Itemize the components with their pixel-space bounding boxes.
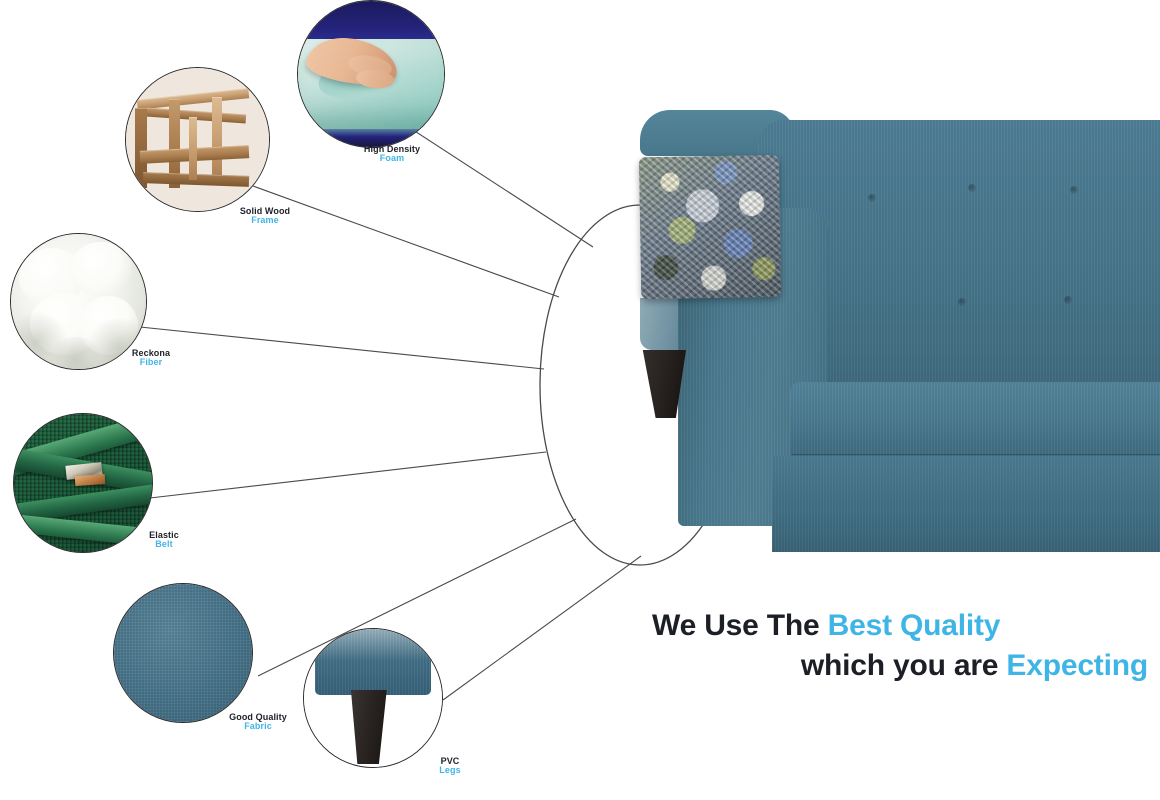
wood-beam: [189, 117, 198, 180]
tagline-line-1: We Use The Best Quality: [652, 606, 1148, 646]
tuft-button: [1064, 296, 1072, 304]
tuft-button: [958, 298, 966, 306]
wire-elastic-belt: [150, 452, 546, 498]
wire-reckona-fiber: [140, 327, 544, 369]
tuft-button: [968, 184, 976, 192]
foam-photo: [298, 1, 444, 147]
tagline-line-2-plain: which you are: [801, 649, 1007, 682]
bubble-pvc-legs[interactable]: [303, 628, 443, 768]
teal-fabric-sofa: [640, 110, 1160, 610]
fabric-swatch-photo: [114, 584, 252, 722]
tuft-button: [868, 194, 876, 202]
cushion-pattern-grain: [639, 155, 781, 299]
belt-metal-clip: [74, 474, 105, 486]
caption-line-2: Foam: [330, 154, 454, 163]
caption-line-2: Fabric: [196, 722, 320, 731]
bubble-good-quality-fabric[interactable]: [113, 583, 253, 723]
infographic-canvas: High Density Foam Solid Wood Frame: [0, 0, 1160, 800]
bubble-solid-wood-frame[interactable]: [125, 67, 270, 212]
caption-reckona-fiber: Reckona Fiber: [104, 349, 198, 368]
caption-line-2: Fiber: [104, 358, 198, 367]
bubble-high-density-foam[interactable]: [297, 0, 445, 148]
fiber-puff: [70, 242, 132, 296]
sofa-corner-shape: [315, 628, 431, 695]
floral-accent-cushion: [639, 155, 781, 299]
tuft-button: [1070, 186, 1078, 194]
wood-beam: [137, 88, 249, 110]
wood-frame-photo: [126, 68, 269, 211]
pvc-leg-photo: [304, 629, 442, 767]
sofa-seat-cushion: [790, 382, 1160, 462]
caption-elastic-belt: Elastic Belt: [120, 531, 208, 550]
caption-high-density-foam: High Density Foam: [330, 145, 454, 164]
tagline-line-2: which you are Expecting: [652, 646, 1148, 686]
caption-pvc-legs: PVC Legs: [420, 757, 480, 776]
wood-beam: [212, 97, 222, 180]
caption-good-quality-fabric: Good Quality Fabric: [196, 713, 320, 732]
caption-solid-wood-frame: Solid Wood Frame: [205, 207, 325, 226]
marketing-tagline: We Use The Best Quality which you are Ex…: [652, 606, 1148, 685]
caption-line-2: Frame: [205, 216, 325, 225]
sofa-base-skirt: [772, 456, 1160, 552]
tagline-line-1-accent: Best Quality: [828, 609, 1001, 642]
wire-pvc-legs: [443, 556, 641, 700]
tagline-line-1-plain: We Use The: [652, 609, 828, 642]
seat-seam-line: [792, 454, 1160, 455]
tagline-line-2-accent: Expecting: [1006, 649, 1148, 682]
wire-solid-wood-frame: [253, 186, 559, 297]
caption-line-2: Legs: [420, 766, 480, 775]
caption-line-2: Belt: [120, 540, 208, 549]
pvc-leg-shape: [351, 690, 387, 765]
